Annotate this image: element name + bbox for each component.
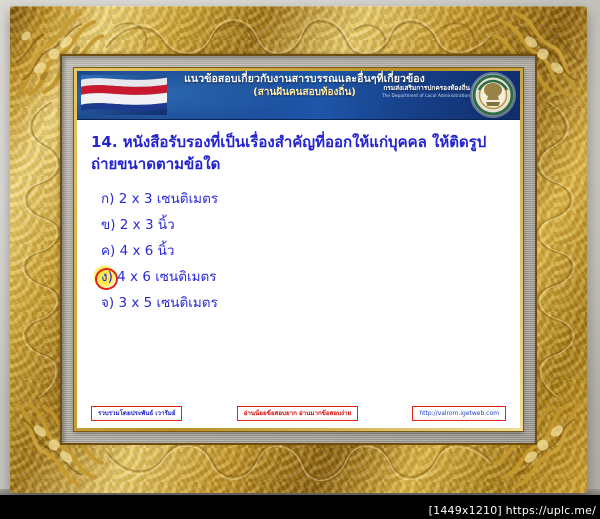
department-name-block: กรมส่งเสริมการปกครองท้องถิ่น The Departm… [382,83,470,99]
choice-text: 4 x 6 เซนติเมตร [117,268,216,286]
footer-credit-box: รวบรวมโดยประพันธ์ เวารัมย์ [91,406,182,421]
frame-left-ornament [12,102,60,397]
frame-mat: แนวข้อสอบเกี่ยวกับงานสารบรรณและอื่นๆที่เ… [62,56,535,443]
slide-header-banner: แนวข้อสอบเกี่ยวกับงานสารบรรณและอื่นๆที่เ… [77,71,520,120]
footer-slogan-box: อ่านน้อยข้อสอบยาก อ่านมากข้อสอบง่าย [237,406,359,421]
answer-choice-list: ก) 2 x 3 เซนติเมตร ข) 2 x 3 นิ้ว ค) 4 x … [91,186,506,317]
frame-bottom-ornament [106,443,491,491]
thai-flag-icon [81,75,167,115]
answer-choice-ngo-selected[interactable]: ง) 4 x 6 เซนติเมตร [91,264,506,290]
choice-text: 2 x 3 นิ้ว [120,216,175,234]
department-name-english: The Department of Local Administration [382,94,470,99]
answer-choice-kho[interactable]: ข) 2 x 3 นิ้ว [91,212,506,238]
department-name-thai: กรมส่งเสริมการปกครองท้องถิ่น [382,83,470,93]
choice-label: ข) [101,216,116,234]
frame-top-ornament [106,8,491,56]
choice-label: ก) [101,190,114,208]
exam-slide: แนวข้อสอบเกี่ยวกับงานสารบรรณและอื่นๆที่เ… [77,71,520,428]
dla-seal-icon [472,74,514,116]
choice-text: 4 x 6 นิ้ว [120,242,175,260]
frame-inner-lip: แนวข้อสอบเกี่ยวกับงานสารบรรณและอื่นๆที่เ… [62,56,535,443]
choice-label: ค) [101,242,115,260]
slide-body: 14. หนังสือรับรองที่เป็นเรื่องสำคัญที่ออ… [77,120,520,428]
frame-gold-slip: แนวข้อสอบเกี่ยวกับงานสารบรรณและอื่นๆที่เ… [74,68,523,431]
slide-footer: รวบรวมโดยประพันธ์ เวารัมย์ อ่านน้อยข้อสอ… [91,406,506,421]
answer-choice-cho[interactable]: จ) 3 x 5 เซนติเมตร [91,290,506,316]
choice-label: จ) [101,294,114,312]
screenshot-canvas: แนวข้อสอบเกี่ยวกับงานสารบรรณและอื่นๆที่เ… [0,0,600,519]
answer-choice-kho2[interactable]: ค) 4 x 6 นิ้ว [91,238,506,264]
frame-right-ornament [537,102,585,397]
footer-url-box[interactable]: http://valrom.igetweb.com [412,406,506,421]
watermark-text: [1449x1210] https://uplc.me/ [429,504,596,517]
question-text: 14. หนังสือรับรองที่เป็นเรื่องสำคัญที่ออ… [91,132,506,176]
picture-frame: แนวข้อสอบเกี่ยวกับงานสารบรรณและอื่นๆที่เ… [10,6,587,493]
answer-choice-ko[interactable]: ก) 2 x 3 เซนติเมตร [91,186,506,212]
choice-text: 3 x 5 เซนติเมตร [118,294,217,312]
choice-label: ง) [101,268,113,286]
choice-text: 2 x 3 เซนติเมตร [119,190,218,208]
